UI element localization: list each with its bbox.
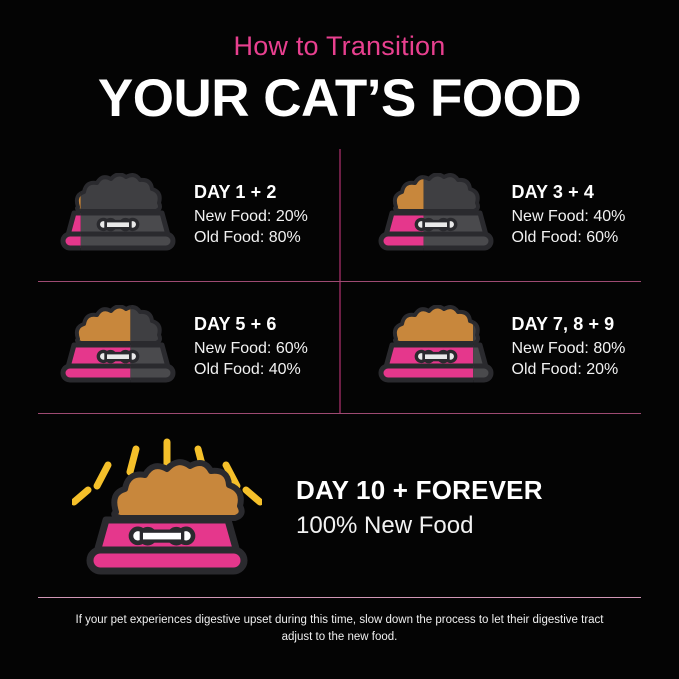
grid-divider-bottom — [38, 413, 641, 414]
step-new-food: New Food: 80% — [512, 339, 626, 360]
step-text-day-7-8-9: DAY 7, 8 + 9 New Food: 80% Old Food: 20% — [512, 313, 626, 380]
cat-food-bowl-sunburst-icon — [72, 438, 262, 578]
footer-divider — [38, 597, 641, 598]
grid-divider-middle — [38, 281, 641, 282]
step-new-food: New Food: 40% — [512, 207, 626, 228]
cat-food-bowl-icon — [56, 173, 180, 257]
hero-title: DAY 10 + FOREVER — [296, 475, 543, 506]
infographic-canvas: How to Transition YOUR CAT’S FOOD — [0, 0, 679, 679]
step-title: DAY 5 + 6 — [194, 313, 308, 336]
step-card-day-5-6: DAY 5 + 6 New Food: 60% Old Food: 40% — [38, 281, 340, 413]
cat-food-bowl-icon — [374, 305, 498, 389]
step-title: DAY 1 + 2 — [194, 181, 308, 204]
bone-emblem-icon — [416, 351, 455, 361]
step-old-food: Old Food: 60% — [512, 228, 626, 249]
step-card-day-7-8-9: DAY 7, 8 + 9 New Food: 80% Old Food: 20% — [340, 281, 642, 413]
page-title: YOUR CAT’S FOOD — [0, 70, 679, 127]
step-card-day-1-2: DAY 1 + 2 New Food: 20% Old Food: 80% — [38, 149, 340, 281]
hero-final-step: DAY 10 + FOREVER 100% New Food — [38, 433, 641, 583]
step-old-food: Old Food: 40% — [194, 360, 308, 381]
header: How to Transition YOUR CAT’S FOOD — [0, 0, 679, 127]
step-card-day-3-4: DAY 3 + 4 New Food: 40% Old Food: 60% — [340, 149, 642, 281]
step-new-food: New Food: 60% — [194, 339, 308, 360]
bone-emblem-icon — [98, 219, 137, 229]
step-text-day-1-2: DAY 1 + 2 New Food: 20% Old Food: 80% — [194, 181, 308, 248]
bone-emblem-icon — [416, 219, 455, 229]
eyebrow-text: How to Transition — [0, 32, 679, 62]
cat-food-bowl-icon — [374, 173, 498, 257]
hero-subtitle: 100% New Food — [296, 512, 543, 541]
bone-emblem-icon — [98, 351, 137, 361]
step-title: DAY 7, 8 + 9 — [512, 313, 626, 336]
step-old-food: Old Food: 80% — [194, 228, 308, 249]
footnote-text: If your pet experiences digestive upset … — [62, 612, 617, 645]
step-title: DAY 3 + 4 — [512, 181, 626, 204]
bone-emblem-icon — [131, 529, 193, 543]
transition-steps-grid: DAY 1 + 2 New Food: 20% Old Food: 80% — [38, 149, 641, 413]
step-old-food: Old Food: 20% — [512, 360, 626, 381]
step-text-day-3-4: DAY 3 + 4 New Food: 40% Old Food: 60% — [512, 181, 626, 248]
step-text-day-5-6: DAY 5 + 6 New Food: 60% Old Food: 40% — [194, 313, 308, 380]
cat-food-bowl-icon — [56, 305, 180, 389]
step-new-food: New Food: 20% — [194, 207, 308, 228]
hero-text: DAY 10 + FOREVER 100% New Food — [296, 475, 543, 541]
